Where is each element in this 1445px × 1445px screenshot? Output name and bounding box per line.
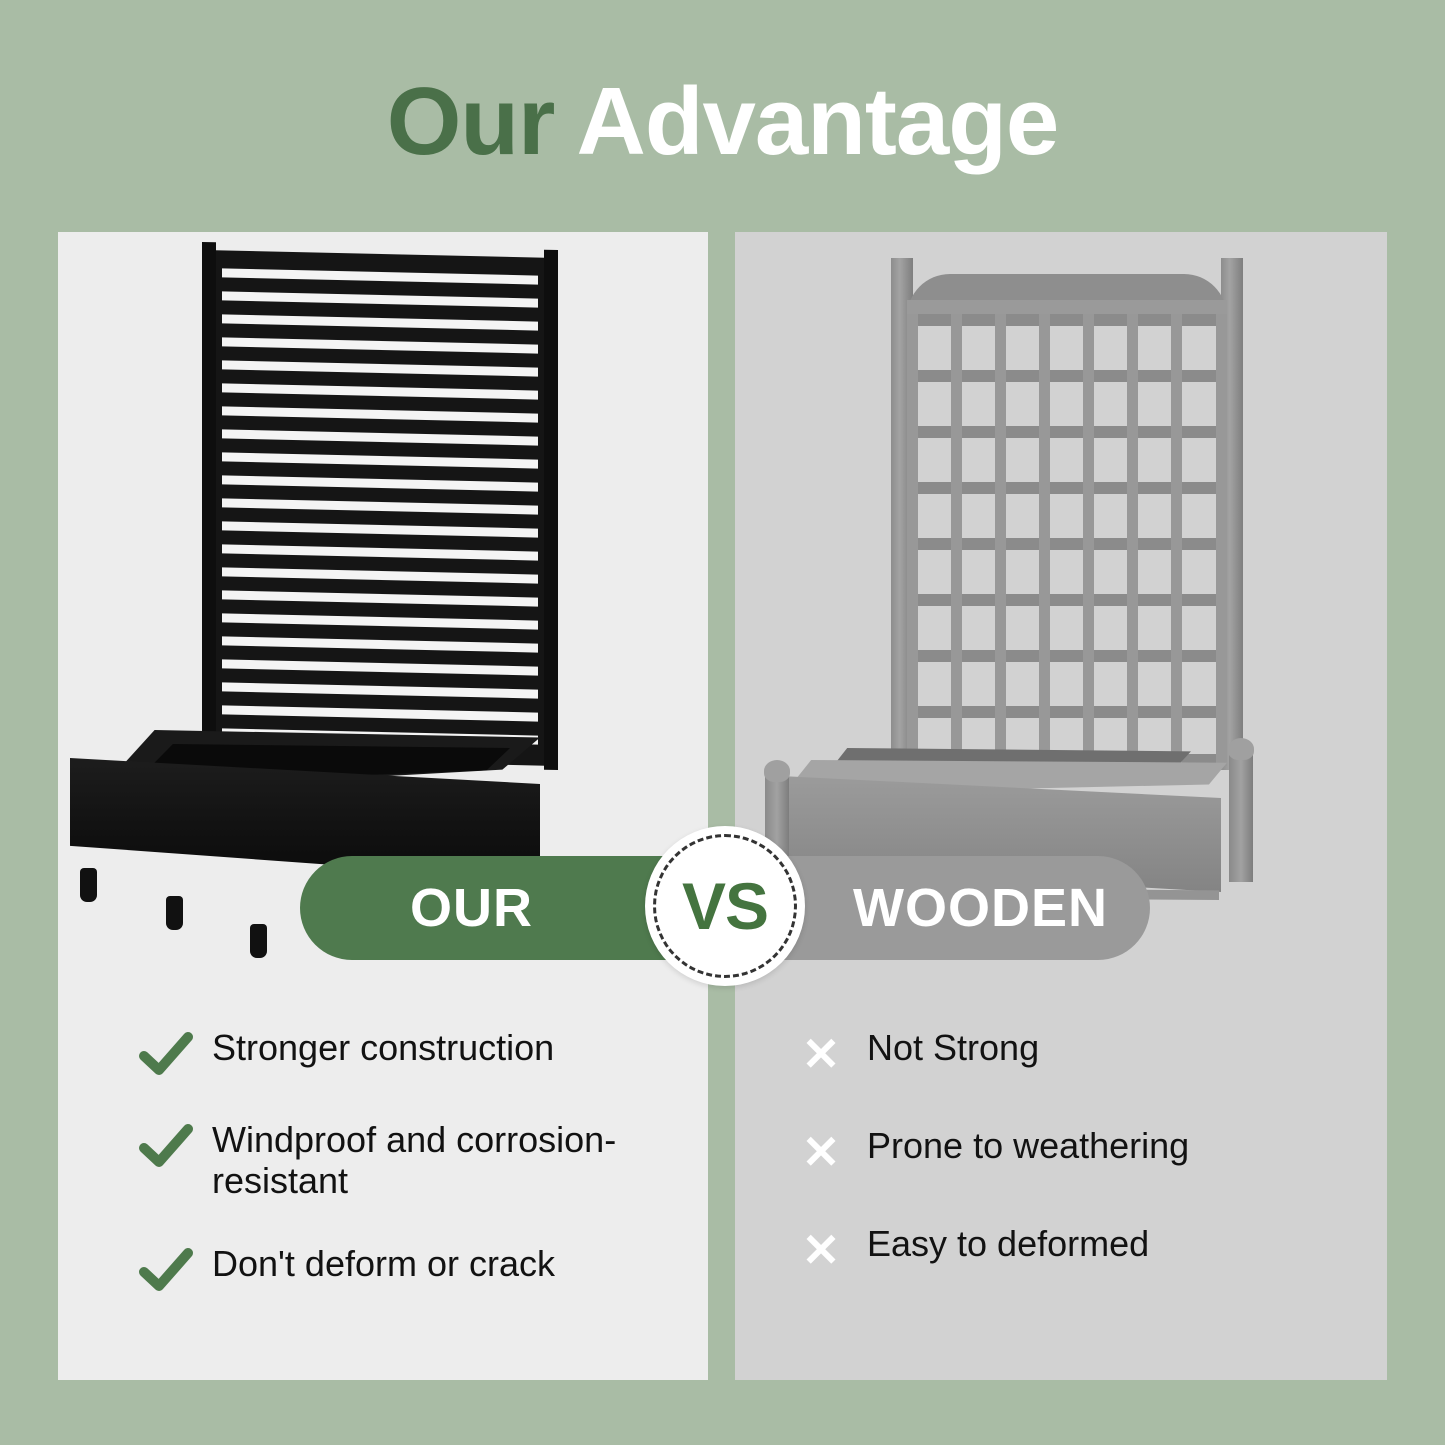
vs-badge: VS — [645, 826, 805, 986]
list-item: Stronger construction — [120, 1027, 708, 1077]
list-item: Windproof and corrosion-resistant — [120, 1119, 708, 1201]
trellis-slat-gap — [222, 360, 538, 376]
check-icon — [120, 1243, 212, 1293]
feature-label: Not Strong — [867, 1027, 1059, 1068]
trellis-slat-gap — [222, 590, 538, 606]
feature-label: Don't deform or crack — [212, 1243, 575, 1284]
our-pill-label: OUR — [410, 877, 533, 939]
trellis-slat-gap — [222, 314, 538, 330]
post-finial-right — [1228, 738, 1254, 760]
page-title: Our Advantage — [0, 72, 1445, 173]
versus-banner: OUR WOODEN VS — [0, 846, 1445, 1006]
lattice-rail-vertical — [1127, 314, 1138, 766]
comparison-panel-wooden: ✕ Not Strong ✕ Prone to weathering ✕ Eas… — [735, 232, 1387, 1380]
trellis-slat-gap — [222, 475, 538, 491]
trellis-slat-gap — [222, 521, 538, 537]
x-icon: ✕ — [775, 1125, 867, 1175]
trellis-slat-gap — [222, 406, 538, 422]
lattice-rail-vertical — [1216, 314, 1227, 766]
lattice-grid — [907, 314, 1227, 766]
vs-badge-label: VS — [682, 868, 768, 944]
feature-list-wooden: ✕ Not Strong ✕ Prone to weathering ✕ Eas… — [735, 1027, 1387, 1321]
trellis-slat-gap — [222, 383, 538, 399]
trellis-slat-gap — [222, 498, 538, 514]
wooden-trellis — [887, 258, 1247, 770]
x-icon: ✕ — [775, 1223, 867, 1273]
trellis-slat-gap — [222, 636, 538, 652]
x-icon-glyph: ✕ — [802, 1227, 841, 1273]
trellis-post-left — [202, 242, 216, 762]
check-icon — [120, 1027, 212, 1077]
list-item: ✕ Easy to deformed — [775, 1223, 1387, 1273]
comparison-panel-our: Stronger construction Windproof and corr… — [58, 232, 708, 1380]
x-icon: ✕ — [775, 1027, 867, 1077]
feature-label: Easy to deformed — [867, 1223, 1169, 1264]
wooden-pill-label: WOODEN — [853, 877, 1108, 939]
trellis-slat-gap — [222, 291, 538, 307]
feature-label: Windproof and corrosion-resistant — [212, 1119, 708, 1201]
x-icon-glyph: ✕ — [802, 1129, 841, 1175]
trellis-slat-gap — [222, 567, 538, 583]
trellis-arched-top-rail — [907, 274, 1227, 318]
page-title-word-our: Our — [387, 68, 555, 175]
trellis-slat-gap — [222, 659, 538, 675]
page-title-word-advantage: Advantage — [577, 68, 1059, 175]
lattice-rail-vertical — [995, 314, 1006, 766]
post-finial-left — [764, 760, 790, 782]
trellis-slat-gap — [222, 452, 538, 468]
check-icon — [120, 1119, 212, 1169]
lattice-rail-vertical — [1171, 314, 1182, 766]
list-item: Don't deform or crack — [120, 1243, 708, 1293]
lattice-rail-vertical — [1083, 314, 1094, 766]
list-item: ✕ Not Strong — [775, 1027, 1387, 1077]
trellis-slat-gap — [222, 705, 538, 721]
feature-label: Stronger construction — [212, 1027, 574, 1068]
trellis-slat-gap — [222, 613, 538, 629]
feature-label: Prone to weathering — [867, 1125, 1209, 1166]
trellis-slat-gap — [222, 544, 538, 560]
trellis-slat-gap — [222, 337, 538, 353]
list-item: ✕ Prone to weathering — [775, 1125, 1387, 1175]
lattice-rail-vertical — [951, 314, 962, 766]
x-icon-glyph: ✕ — [802, 1031, 841, 1077]
lattice-rail-vertical — [1039, 314, 1050, 766]
trellis-post-right — [544, 250, 558, 770]
feature-list-our: Stronger construction Windproof and corr… — [58, 1027, 708, 1335]
trellis-slat-gap — [222, 682, 538, 698]
lattice-rail-vertical — [907, 314, 918, 766]
trellis-slat-gap — [222, 268, 538, 284]
metal-trellis — [204, 250, 556, 766]
trellis-slat-gap — [222, 429, 538, 445]
